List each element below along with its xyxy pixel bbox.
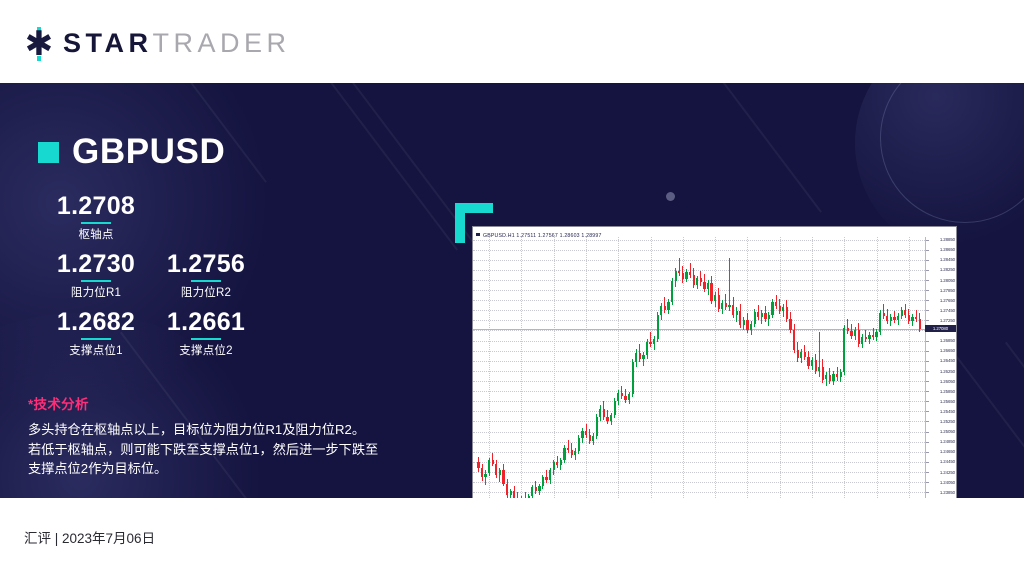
chart-gridline-horizontal — [473, 320, 925, 321]
candle-body — [883, 313, 885, 316]
candle-body — [865, 337, 867, 339]
chart-gridline-vertical — [780, 237, 781, 498]
candle-body — [502, 470, 504, 483]
candle-body — [861, 337, 863, 344]
price-axis-tick — [926, 492, 929, 493]
candle-body — [513, 491, 515, 498]
chart-gridline-horizontal — [473, 482, 925, 483]
candle-body — [599, 409, 601, 417]
main-panel: GBPUSD 1.2708 枢轴点 1.2730 阻力位R1 1.2756 阻力… — [0, 83, 1024, 498]
candle-body — [890, 317, 892, 321]
candle-body — [556, 462, 558, 465]
level-s1-underline — [81, 338, 111, 340]
candle-body — [732, 305, 734, 315]
candle-body — [499, 470, 501, 474]
candle-body — [700, 278, 702, 282]
candle-body — [571, 450, 573, 455]
price-axis-tick — [926, 341, 929, 342]
price-axis-label: 1.28850 — [940, 237, 955, 242]
price-axis-label: 1.24450 — [940, 459, 955, 464]
candle-body — [832, 374, 834, 380]
price-axis-label: 1.26650 — [940, 348, 955, 353]
candle-body — [825, 375, 827, 379]
current-price-badge: 1.27080 — [925, 325, 956, 332]
price-axis-tick — [926, 310, 929, 311]
price-axis-tick — [926, 280, 929, 281]
candle-body — [779, 306, 781, 311]
candle-body — [843, 328, 845, 372]
level-s2: 1.2661 支撑点位2 — [136, 307, 276, 358]
candle-wick — [847, 319, 848, 334]
candle-body — [567, 448, 569, 450]
candle-body — [811, 360, 813, 366]
price-axis-label: 1.25650 — [940, 399, 955, 404]
price-axis-tick — [926, 260, 929, 261]
candle-body — [492, 460, 494, 464]
price-axis-tick — [926, 421, 929, 422]
price-axis-tick — [926, 452, 929, 453]
candle-wick — [865, 330, 866, 342]
candle-body — [624, 396, 626, 400]
candle-body — [904, 310, 906, 315]
candle-body — [671, 281, 673, 301]
candle-body — [685, 272, 687, 279]
candle-body — [728, 305, 730, 307]
candle-body — [563, 448, 565, 460]
price-axis-tick — [926, 371, 929, 372]
logo-text-star: STAR — [63, 28, 153, 59]
candle-body — [757, 312, 759, 317]
candle-body — [639, 353, 641, 359]
square-marker-icon — [38, 142, 59, 163]
candle-wick — [729, 258, 730, 311]
level-r2: 1.2756 阻力位R2 — [136, 249, 276, 300]
page-footer: 汇评 | 2023年7月06日 — [0, 498, 1024, 576]
page-header: ✱ STAR TRADER — [0, 0, 1024, 83]
chart-gridline-horizontal — [473, 361, 925, 362]
candle-body — [797, 350, 799, 358]
price-axis-label: 1.28250 — [940, 267, 955, 272]
chart-gridline-vertical — [586, 237, 587, 498]
chart-gridline-horizontal — [473, 421, 925, 422]
candle-body — [477, 462, 479, 469]
candle-body — [535, 487, 537, 491]
candle-body — [897, 316, 899, 320]
price-axis-label: 1.24650 — [940, 449, 955, 454]
candle-body — [592, 436, 594, 441]
candle-body — [696, 278, 698, 284]
candle-body — [678, 271, 680, 273]
candlestick-chart[interactable]: GBPUSD,H1 1.27511 1.27567 1.28603 1.2899… — [472, 226, 957, 498]
price-axis-tick — [926, 320, 929, 321]
chart-gridline-horizontal — [473, 381, 925, 382]
level-s2-value: 1.2661 — [136, 307, 276, 337]
candle-body — [718, 295, 720, 309]
bg-diagonal-1 — [300, 83, 458, 251]
analysis-line-3: 支撑点位2作为目标位。 — [28, 459, 403, 479]
chart-gridline-horizontal — [473, 391, 925, 392]
price-axis-tick — [926, 411, 929, 412]
candle-body — [495, 464, 497, 475]
price-axis-tick — [926, 240, 929, 241]
price-axis-label: 1.24850 — [940, 439, 955, 444]
candle-wick — [873, 328, 874, 340]
candle-wick — [568, 440, 569, 453]
candle-wick — [883, 304, 884, 319]
candle-body — [764, 313, 766, 319]
candle-body — [578, 438, 580, 451]
candle-body — [807, 357, 809, 366]
candle-body — [775, 302, 777, 306]
candle-wick — [679, 258, 680, 276]
level-pivot: 1.2708 枢轴点 — [26, 191, 166, 242]
candle-body — [689, 272, 691, 275]
chart-gridline-vertical — [909, 237, 910, 498]
candle-body — [560, 460, 562, 465]
price-axis-label: 1.27250 — [940, 318, 955, 323]
chart-gridline-horizontal — [473, 310, 925, 311]
candle-body — [703, 282, 705, 288]
chart-gridline-vertical — [715, 237, 716, 498]
candle-body — [901, 310, 903, 316]
chart-gridline-horizontal — [473, 401, 925, 402]
candle-body — [481, 468, 483, 477]
chart-gridline-vertical — [651, 237, 652, 498]
candle-body — [915, 317, 917, 319]
price-axis-label: 1.27450 — [940, 308, 955, 313]
candle-body — [589, 435, 591, 441]
candle-body — [553, 462, 555, 470]
technical-analysis-block: *技术分析 多头持仓在枢轴点以上，目标位为阻力位R1及阻力位R2。 若低于枢轴点… — [28, 393, 403, 479]
price-axis-tick — [926, 361, 929, 362]
price-axis-tick — [926, 432, 929, 433]
candle-body — [628, 394, 630, 400]
price-axis-label: 1.25250 — [940, 419, 955, 424]
chart-gridline-horizontal — [473, 452, 925, 453]
level-pivot-value: 1.2708 — [26, 191, 166, 221]
chart-gridline-vertical — [877, 237, 878, 498]
analysis-line-1: 多头持仓在枢轴点以上，目标位为阻力位R1及阻力位R2。 — [28, 420, 403, 440]
page-title: GBPUSD — [72, 132, 225, 172]
footer-caption: 汇评 | 2023年7月06日 — [24, 527, 155, 547]
candle-body — [836, 374, 838, 377]
price-axis-label: 1.26250 — [940, 369, 955, 374]
candle-body — [484, 474, 486, 478]
price-axis-label: 1.27850 — [940, 288, 955, 293]
candle-body — [893, 317, 895, 320]
price-axis-label: 1.23850 — [940, 490, 955, 495]
chart-symbol-marker-icon — [476, 233, 480, 236]
candle-body — [675, 271, 677, 281]
logo-pip-bottom — [37, 56, 41, 61]
candle-body — [585, 431, 587, 435]
candle-body — [531, 487, 533, 496]
candle-body — [596, 417, 598, 436]
level-s2-label: 支撑点位2 — [136, 342, 276, 358]
price-axis-label: 1.27650 — [940, 298, 955, 303]
chart-gridline-vertical — [554, 237, 555, 498]
candle-body — [542, 477, 544, 486]
candle-body — [879, 313, 881, 332]
price-axis-label: 1.25050 — [940, 429, 955, 434]
level-r2-underline — [191, 280, 221, 282]
analysis-line-2: 若低于枢轴点，则可能下跌至支撑点位1，然后进一步下跌至 — [28, 440, 403, 460]
level-s2-underline — [191, 338, 221, 340]
candle-body — [574, 451, 576, 455]
candle-body — [793, 330, 795, 350]
candle-body — [664, 306, 666, 310]
chart-gridline-horizontal — [473, 290, 925, 291]
candle-body — [646, 342, 648, 355]
candle-body — [800, 352, 802, 358]
candle-wick — [664, 297, 665, 313]
chart-gridline-horizontal — [473, 432, 925, 433]
candle-body — [642, 355, 644, 359]
chart-gridline-horizontal — [473, 260, 925, 261]
candle-body — [510, 491, 512, 495]
chart-gridline-vertical — [618, 237, 619, 498]
price-axis-tick — [926, 391, 929, 392]
price-axis-tick — [926, 401, 929, 402]
price-axis-tick — [926, 351, 929, 352]
candle-body — [919, 319, 921, 329]
chart-zone: GBPUSD,H1 1.27511 1.27567 1.28603 1.2899… — [450, 108, 1010, 478]
candle-body — [693, 275, 695, 284]
chart-gridline-horizontal — [473, 462, 925, 463]
candle-body — [815, 360, 817, 371]
candle-body — [617, 393, 619, 401]
candle-body — [771, 302, 773, 315]
candle-body — [621, 393, 623, 396]
candle-body — [886, 316, 888, 321]
candle-body — [721, 303, 723, 309]
price-axis-tick — [926, 250, 929, 251]
candle-body — [761, 313, 763, 317]
price-axis-tick — [926, 300, 929, 301]
candle-body — [789, 319, 791, 330]
chart-gridline-vertical — [521, 237, 522, 498]
candle-body — [614, 401, 616, 415]
chart-gridline-horizontal — [473, 442, 925, 443]
asterisk-star-icon: ✱ — [24, 29, 54, 59]
candle-body — [657, 315, 659, 339]
candle-body — [660, 306, 662, 315]
candle-body — [872, 335, 874, 337]
chart-gridline-horizontal — [473, 492, 925, 493]
candle-body — [875, 332, 877, 337]
price-axis-label: 1.26050 — [940, 379, 955, 384]
chart-gridline-horizontal — [473, 240, 925, 241]
price-axis-label: 1.28650 — [940, 247, 955, 252]
chart-title-bar: GBPUSD,H1 1.27511 1.27567 1.28603 1.2899… — [473, 227, 956, 237]
candle-body — [632, 362, 634, 393]
candle-body — [682, 273, 684, 279]
chart-gridline-horizontal — [473, 411, 925, 412]
candle-body — [488, 460, 490, 473]
chart-gridline-horizontal — [473, 351, 925, 352]
level-pivot-label: 枢轴点 — [26, 226, 166, 242]
price-axis-tick — [926, 472, 929, 473]
candle-body — [739, 311, 741, 325]
candle-body — [603, 409, 605, 417]
candle-body — [545, 477, 547, 480]
candle-wick — [690, 263, 691, 278]
price-axis[interactable]: 1.288501.286501.284501.282501.280501.278… — [925, 237, 956, 498]
candle-body — [710, 283, 712, 300]
candle-body — [606, 417, 608, 421]
candle-body — [549, 470, 551, 479]
price-axis-label: 1.25450 — [940, 409, 955, 414]
price-axis-tick — [926, 482, 929, 483]
candle-body — [635, 353, 637, 362]
price-axis-label: 1.28450 — [940, 257, 955, 262]
price-axis-tick — [926, 290, 929, 291]
candle-body — [840, 372, 842, 377]
price-axis-label: 1.25850 — [940, 389, 955, 394]
candle-body — [725, 303, 727, 307]
candle-body — [854, 330, 856, 336]
candle-body — [667, 302, 669, 310]
level-r2-label: 阻力位R2 — [136, 284, 276, 300]
candle-body — [754, 312, 756, 324]
chart-plot-area[interactable] — [473, 237, 925, 498]
candle-body — [829, 375, 831, 380]
candle-wick — [725, 294, 726, 310]
candle-body — [746, 320, 748, 330]
brand-logo: ✱ STAR TRADER — [24, 28, 291, 59]
logo-asterisk-glyph: ✱ — [24, 31, 54, 58]
price-axis-tick — [926, 381, 929, 382]
price-axis-label: 1.24050 — [940, 480, 955, 485]
instrument-title-row: GBPUSD — [38, 132, 225, 172]
candle-body — [653, 339, 655, 344]
chart-gridline-horizontal — [473, 250, 925, 251]
candle-body — [858, 330, 860, 344]
candle-body — [581, 431, 583, 438]
candle-body — [506, 484, 508, 495]
candle-body — [868, 335, 870, 339]
candle-body — [818, 367, 820, 371]
level-pivot-underline — [81, 222, 111, 224]
price-axis-label: 1.28050 — [940, 278, 955, 283]
price-axis-tick — [926, 462, 929, 463]
candle-body — [908, 315, 910, 321]
price-axis-label: 1.24250 — [940, 470, 955, 475]
candle-body — [850, 331, 852, 336]
candle-body — [768, 315, 770, 319]
analysis-heading: *技术分析 — [28, 393, 403, 413]
candle-body — [743, 320, 745, 325]
chart-gridline-vertical — [747, 237, 748, 498]
logo-text-trader: TRADER — [153, 28, 291, 59]
chart-gridline-horizontal — [473, 371, 925, 372]
candle-body — [610, 415, 612, 421]
candle-wick — [650, 332, 651, 347]
chart-gridline-horizontal — [473, 270, 925, 271]
price-axis-label: 1.26850 — [940, 338, 955, 343]
candle-body — [804, 352, 806, 357]
price-axis-label: 1.26450 — [940, 358, 955, 363]
candle-body — [538, 486, 540, 491]
candle-wick — [916, 310, 917, 322]
candle-body — [707, 283, 709, 288]
price-axis-tick — [926, 270, 929, 271]
level-r2-value: 1.2756 — [136, 249, 276, 279]
candle-body — [786, 307, 788, 319]
level-r1-underline — [81, 280, 111, 282]
candle-body — [847, 328, 849, 331]
price-axis-tick — [926, 442, 929, 443]
chart-gridline-horizontal — [473, 300, 925, 301]
candle-body — [782, 307, 784, 311]
candle-body — [911, 317, 913, 321]
candle-body — [736, 311, 738, 315]
candle-body — [714, 295, 716, 301]
chart-gridline-horizontal — [473, 472, 925, 473]
candle-body — [750, 324, 752, 330]
candle-body — [822, 367, 824, 379]
candle-body — [649, 342, 651, 344]
